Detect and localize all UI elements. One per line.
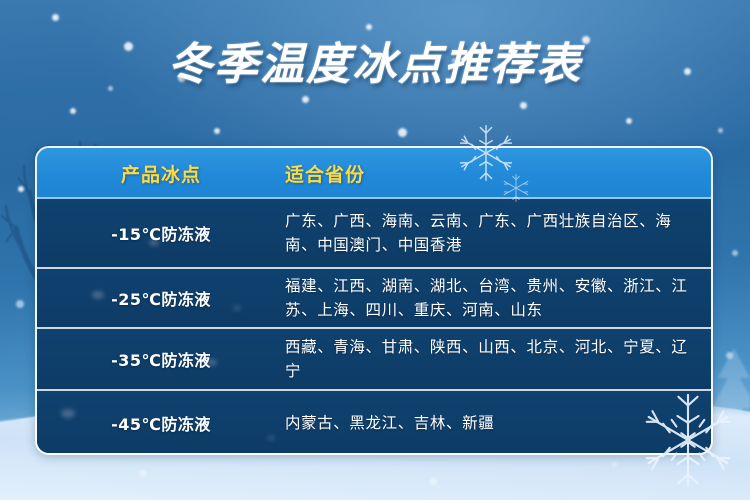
page-title: 冬季温度冰点推荐表: [168, 42, 582, 88]
cell-provinces: 广东、广西、海南、云南、广东、广西壮族自治区、海南、中国澳门、中国香港: [285, 209, 711, 257]
table-row: -15℃防冻液 广东、广西、海南、云南、广东、广西壮族自治区、海南、中国澳门、中…: [37, 199, 711, 267]
table-header-row: 产品冰点 适合省份: [37, 148, 711, 199]
table-row: -25℃防冻液 福建、江西、湖南、湖北、台湾、贵州、安徽、浙江、江苏、上海、四川…: [37, 267, 711, 327]
column-header-freezing-point: 产品冰点: [37, 160, 285, 187]
page-title-wrap: 冬季温度冰点推荐表: [0, 42, 750, 88]
cell-provinces: 西藏、青海、甘肃、陕西、山西、北京、河北、宁夏、辽宁: [285, 335, 711, 383]
table-row: -35℃防冻液 西藏、青海、甘肃、陕西、山西、北京、河北、宁夏、辽宁: [37, 327, 711, 389]
cell-freezing-point: -35℃防冻液: [37, 347, 285, 371]
table-row: -45℃防冻液 内蒙古、黑龙江、吉林、新疆: [37, 389, 711, 455]
cell-freezing-point: -25℃防冻液: [37, 286, 285, 310]
recommendation-table: 产品冰点 适合省份 -15℃防冻液 广东、广西、海南、云南、广东、广西壮族自治区…: [35, 146, 713, 455]
cell-freezing-point: -45℃防冻液: [37, 411, 285, 435]
cell-freezing-point: -15℃防冻液: [37, 221, 285, 245]
column-header-provinces: 适合省份: [285, 160, 711, 187]
winter-antifreeze-poster: 冬季温度冰点推荐表: [0, 0, 750, 500]
cell-provinces: 内蒙古、黑龙江、吉林、新疆: [285, 411, 711, 435]
table-body: -15℃防冻液 广东、广西、海南、云南、广东、广西壮族自治区、海南、中国澳门、中…: [37, 199, 711, 453]
cell-provinces: 福建、江西、湖南、湖北、台湾、贵州、安徽、浙江、江苏、上海、四川、重庆、河南、山…: [285, 274, 711, 322]
